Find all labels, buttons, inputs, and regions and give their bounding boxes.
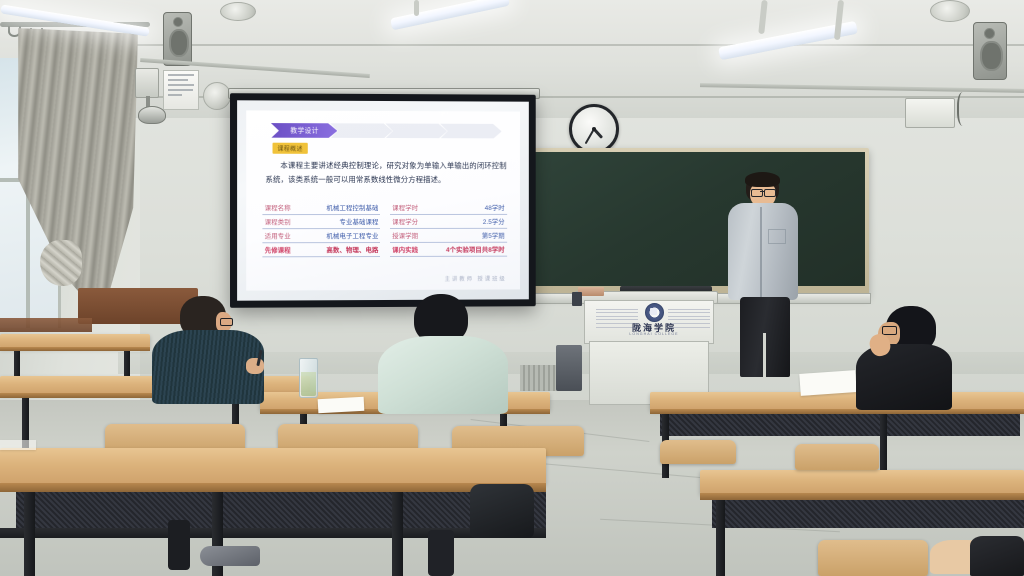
blackboard-surface (535, 152, 865, 286)
student-hand (246, 358, 264, 374)
desk-book-rack (16, 492, 546, 530)
slide-chevron-active: 教学设计 (271, 123, 337, 138)
glasses-bridge (760, 191, 765, 192)
desk-edge (0, 483, 546, 492)
student-torso (970, 536, 1024, 576)
side-cabinet-edge (0, 318, 92, 332)
projection-screen: 教学设计 课程概述 本课程主要讲述经典控制理论，研究对象为单输入单输出的闭环控制… (230, 93, 536, 308)
chair-back[interactable] (660, 440, 736, 464)
student-torso (856, 344, 952, 410)
shirt-placket (760, 207, 762, 297)
desk-book-rack (712, 500, 1024, 528)
table-value: 专业基础课程 (339, 217, 378, 226)
slide-section-nav: 教学设计 (271, 123, 502, 139)
slide-footer: 主讲教师 授课班级 (445, 274, 507, 282)
desk-surface (700, 470, 1024, 494)
student-center (378, 294, 508, 410)
wall-speaker-left (163, 12, 192, 66)
speaker-tweeter (984, 28, 995, 39)
wall-speaker-right (973, 22, 1007, 80)
leg-gap (763, 333, 766, 377)
speaker-tweeter (173, 17, 183, 27)
desk-book-rack (660, 414, 1020, 436)
table-key: 授课学期 (392, 231, 418, 240)
speaker-woofer (980, 41, 1003, 71)
chair-back[interactable] (795, 444, 879, 470)
slide-chevron-label: 教学设计 (290, 126, 319, 136)
table-value: 2.5学分 (483, 217, 505, 226)
table-key: 课程类别 (265, 217, 291, 226)
shirt-pocket (768, 229, 786, 244)
ceiling-seam (118, 44, 1024, 46)
slide-chevron-ghost (385, 123, 447, 138)
podium-device (572, 292, 582, 306)
wall-clock (569, 104, 619, 154)
student-left (150, 296, 260, 404)
security-camera-icon[interactable] (138, 106, 166, 124)
desk-crossbar (0, 528, 546, 538)
shoe (200, 546, 260, 566)
table-value: 第5学期 (482, 231, 505, 240)
table-value: 4个实验项目共8学时 (446, 245, 505, 254)
instructor-shirt (728, 203, 798, 300)
desk-surface (650, 392, 1024, 410)
paper-sheet[interactable] (318, 397, 365, 413)
table-row: 先修课程 高数、物理、电路 (263, 243, 381, 258)
trouser-leg (168, 520, 190, 570)
blackboard (531, 148, 869, 296)
slide: 教学设计 课程概述 本课程主要讲述经典控制理论，研究对象为单输入单输出的闭环控制… (246, 110, 520, 290)
slide-chevron-ghost (330, 123, 392, 138)
table-key: 课内实践 (392, 245, 418, 254)
instructor (722, 173, 806, 379)
desk-edge (700, 493, 1024, 500)
computer-tower (556, 345, 582, 391)
wall-control-panel[interactable] (905, 98, 955, 128)
wall-notice-sign (163, 70, 199, 110)
table-row: 授课学期 第5学期 (390, 229, 506, 243)
slide-info-tables: 课程名称 机械工程控制基础 课程类别 专业基础课程 适用专业 机械电子工程专业 (263, 200, 507, 257)
table-row: 课程学分 2.5学分 (390, 215, 506, 229)
table-row: 课程学时 48学时 (390, 200, 506, 214)
table-value: 机械电子工程专业 (326, 231, 378, 240)
table-key: 课程学分 (392, 217, 418, 226)
slide-body-text: 本课程主要讲述经典控制理论，研究对象为单输入单输出的闭环控制系统，该类系统一般可… (265, 159, 506, 187)
table-key: 先修课程 (265, 245, 291, 254)
slide-table-right: 课程学时 48学时 课程学分 2.5学分 授课学期 第5学期 课内实践 (390, 200, 506, 257)
trouser-leg (428, 530, 454, 576)
paper-sheet-left[interactable] (0, 440, 36, 450)
slide-subtitle-tag: 课程概述 (272, 143, 307, 154)
table-row: 适用专业 机械电子工程专业 (263, 229, 381, 243)
light-hanger (414, 0, 419, 16)
desk-surface (0, 448, 546, 484)
speaker-woofer (169, 29, 189, 57)
university-emblem-icon (645, 303, 664, 322)
desk-surface (0, 334, 150, 348)
wall-junction-box (135, 68, 159, 98)
clock-center-pin (592, 127, 596, 131)
desk-leg (716, 500, 725, 576)
glasses-icon (220, 318, 233, 326)
wall-gauge (203, 82, 231, 110)
table-key: 课程名称 (265, 203, 291, 212)
table-key: 适用专业 (265, 231, 291, 240)
table-value: 高数、物理、电路 (326, 245, 378, 254)
water-cup[interactable] (299, 358, 318, 398)
desk-leg (24, 492, 35, 576)
student-torso (378, 336, 508, 414)
glasses-icon (764, 189, 776, 197)
wall-cable (957, 92, 971, 126)
podium-institution-name-en: LONGHAI COLLEGE (620, 332, 688, 336)
desk-leg (392, 492, 403, 576)
table-key: 课程学时 (392, 203, 418, 212)
classroom-scene: 教学设计 课程概述 本课程主要讲述经典控制理论，研究对象为单输入单输出的闭环控制… (0, 0, 1024, 576)
slide-chevron-ghost (440, 124, 501, 139)
projection-screen-surface: 教学设计 课程概述 本课程主要讲述经典控制理论，研究对象为单输入单输出的闭环控制… (237, 100, 529, 300)
instructor-hair (745, 172, 780, 187)
table-value: 48学时 (485, 203, 505, 212)
student-right (848, 306, 954, 406)
curtain-tieback[interactable] (40, 240, 82, 286)
table-row: 课程类别 专业基础课程 (263, 215, 381, 229)
cup-liquid (301, 372, 316, 396)
table-value: 机械工程控制基础 (326, 203, 378, 212)
student-front-right (930, 536, 1024, 576)
smoke-detector-icon (220, 2, 256, 21)
table-row: 课程名称 机械工程控制基础 (263, 200, 381, 214)
table-row: 课内实践 4个实验项目共8学时 (390, 243, 506, 257)
slide-table-left: 课程名称 机械工程控制基础 课程类别 专业基础课程 适用专业 机械电子工程专业 (263, 200, 381, 257)
backpack[interactable] (470, 484, 534, 538)
chair-back[interactable] (818, 540, 928, 576)
ceiling-mount-base (930, 0, 970, 22)
